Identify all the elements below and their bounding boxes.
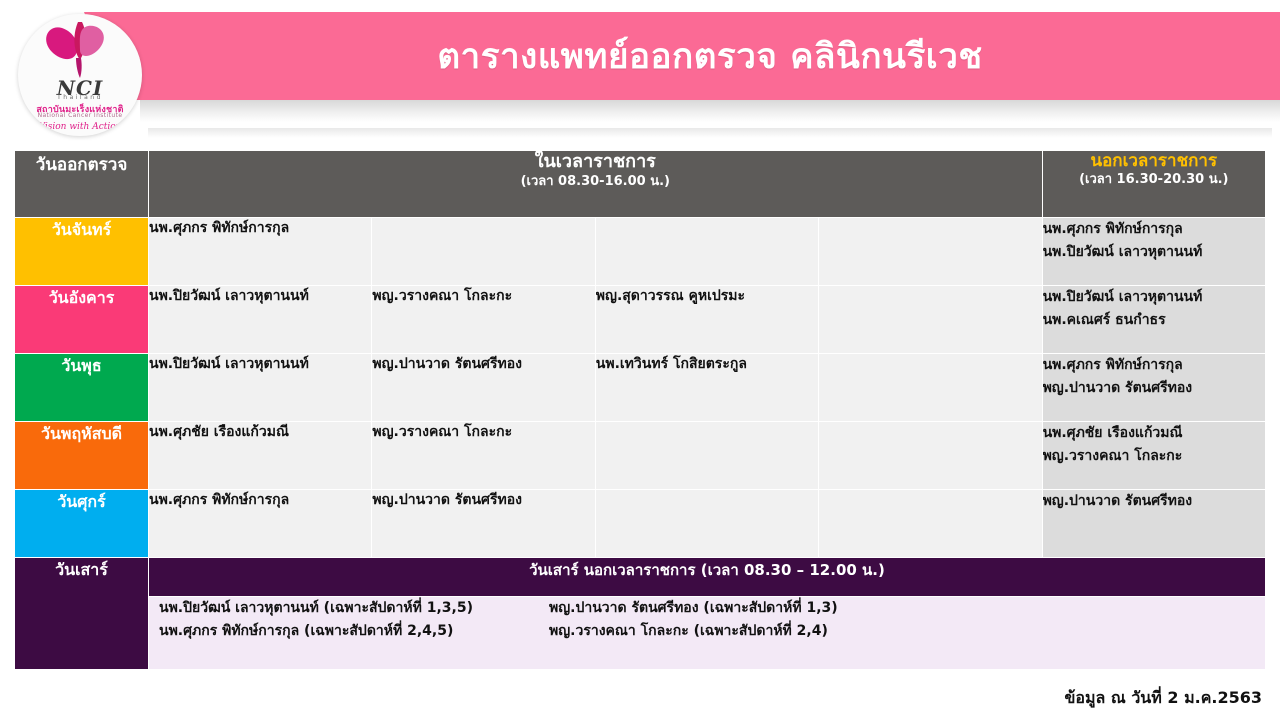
saturday-col2-line-1: พญ.ปานวาด รัตนศรีทอง (เฉพาะสัปดาห์ที่ 1,… xyxy=(549,597,949,620)
day-label-thursday: วันพฤหัสบดี xyxy=(15,422,149,490)
after-hours-wednesday-line-1: นพ.ศุภกร พิทักษ์การกุล xyxy=(1043,354,1265,377)
header-after-hours: นอกเวลาราชการ (เวลา 16.30-20.30 น.) xyxy=(1042,151,1265,218)
table-header-row: วันออกตรวจ ในเวลาราชการ (เวลา 08.30-16.0… xyxy=(15,151,1266,218)
page-title: ตารางแพทย์ออกตรวจ คลินิกนรีเวช xyxy=(140,12,1280,100)
header-in-hours-title: ในเวลาราชการ xyxy=(149,151,1042,174)
table-row: วันอังคาร นพ.ปิยวัฒน์ เลาวหุตานนท์ พญ.วร… xyxy=(15,286,1266,354)
slot-thursday-3 xyxy=(595,422,818,490)
saturday-col2-line-2: พญ.วรางคณา โกละกะ (เฉพาะสัปดาห์ที่ 2,4) xyxy=(549,620,949,643)
slot-friday-4 xyxy=(819,490,1042,558)
after-hours-wednesday-line-2: พญ.ปานวาด รัตนศรีทอง xyxy=(1043,377,1265,400)
slot-thursday-1: นพ.ศุภชัย เรืองแก้วมณี xyxy=(149,422,372,490)
header-in-hours: ในเวลาราชการ (เวลา 08.30-16.00 น.) xyxy=(149,151,1043,218)
after-hours-wednesday: นพ.ศุภกร พิทักษ์การกุล พญ.ปานวาด รัตนศรี… xyxy=(1042,354,1265,422)
doctor-schedule-table: วันออกตรวจ ในเวลาราชการ (เวลา 08.30-16.0… xyxy=(14,150,1266,670)
saturday-col1-line-1: นพ.ปิยวัฒน์ เลาวหุตานนท์ (เฉพาะสัปดาห์ที… xyxy=(159,597,549,620)
slot-thursday-2: พญ.วรางคณา โกละกะ xyxy=(372,422,595,490)
slot-monday-3 xyxy=(595,218,818,286)
slot-wednesday-3: นพ.เทวินทร์ โกสิยตระกูล xyxy=(595,354,818,422)
slot-tuesday-1: นพ.ปิยวัฒน์ เลาวหุตานนท์ xyxy=(149,286,372,354)
day-label-saturday: วันเสาร์ xyxy=(15,558,149,670)
after-hours-friday: พญ.ปานวาด รัตนศรีทอง xyxy=(1042,490,1265,558)
slot-friday-1: นพ.ศุภกร พิทักษ์การกุล xyxy=(149,490,372,558)
slot-monday-2 xyxy=(372,218,595,286)
after-hours-thursday: นพ.ศุภชัย เรืองแก้วมณี พญ.วรางคณา โกละกะ xyxy=(1042,422,1265,490)
header-after-hours-title: นอกเวลาราชการ xyxy=(1043,151,1265,172)
after-hours-tuesday-line-1: นพ.ปิยวัฒน์ เลาวหุตานนท์ xyxy=(1043,286,1265,309)
header-day-column: วันออกตรวจ xyxy=(15,151,149,218)
header-in-hours-time: (เวลา 08.30-16.00 น.) xyxy=(149,174,1042,191)
saturday-title: วันเสาร์ นอกเวลาราชการ (เวลา 08.30 – 12.… xyxy=(149,558,1266,597)
after-hours-monday: นพ.ศุภกร พิทักษ์การกุล นพ.ปิยวัฒน์ เลาวห… xyxy=(1042,218,1265,286)
header-after-hours-time: (เวลา 16.30-20.30 น.) xyxy=(1043,172,1265,189)
saturday-column-1: นพ.ปิยวัฒน์ เลาวหุตานนท์ (เฉพาะสัปดาห์ที… xyxy=(159,597,549,643)
updated-date: ข้อมูล ณ วันที่ 2 ม.ค.2563 xyxy=(1064,686,1262,711)
saturday-title-row: วันเสาร์ วันเสาร์ นอกเวลาราชการ (เวลา 08… xyxy=(15,558,1266,597)
slot-tuesday-4 xyxy=(819,286,1042,354)
after-hours-monday-line-1: นพ.ศุภกร พิทักษ์การกุล xyxy=(1043,218,1265,241)
slot-monday-4 xyxy=(819,218,1042,286)
after-hours-thursday-line-1: นพ.ศุภชัย เรืองแก้วมณี xyxy=(1043,422,1265,445)
table-row: วันพฤหัสบดี นพ.ศุภชัย เรืองแก้วมณี พญ.วร… xyxy=(15,422,1266,490)
slot-friday-3 xyxy=(595,490,818,558)
slide-page: ตารางแพทย์ออกตรวจ คลินิกนรีเวช NCI Thail… xyxy=(0,0,1280,720)
slot-monday-1: นพ.ศุภกร พิทักษ์การกุล xyxy=(149,218,372,286)
saturday-column-2: พญ.ปานวาด รัตนศรีทอง (เฉพาะสัปดาห์ที่ 1,… xyxy=(549,597,949,643)
logo-country: Thailand xyxy=(18,94,142,101)
day-label-monday: วันจันทร์ xyxy=(15,218,149,286)
banner-shadow xyxy=(140,100,1280,122)
saturday-body-row: นพ.ปิยวัฒน์ เลาวหุตานนท์ (เฉพาะสัปดาห์ที… xyxy=(15,597,1266,670)
saturday-col1-line-2: นพ.ศุภกร พิทักษ์การกุล (เฉพาะสัปดาห์ที่ … xyxy=(159,620,549,643)
table-row: วันพุธ นพ.ปิยวัฒน์ เลาวหุตานนท์ พญ.ปานวา… xyxy=(15,354,1266,422)
day-label-friday: วันศุกร์ xyxy=(15,490,149,558)
nci-logo: NCI Thailand สถาบันมะเร็งแห่งชาติ Nation… xyxy=(18,14,142,136)
header-banner: ตารางแพทย์ออกตรวจ คลินิกนรีเวช xyxy=(0,12,1280,116)
after-hours-friday-line-1: พญ.ปานวาด รัตนศรีทอง xyxy=(1043,490,1265,513)
saturday-doctors: นพ.ปิยวัฒน์ เลาวหุตานนท์ (เฉพาะสัปดาห์ที… xyxy=(149,597,1266,670)
slot-wednesday-1: นพ.ปิยวัฒน์ เลาวหุตานนท์ xyxy=(149,354,372,422)
after-hours-monday-line-2: นพ.ปิยวัฒน์ เลาวหุตานนท์ xyxy=(1043,241,1265,264)
logo-tagline: Vision with Action xyxy=(18,122,142,132)
table-row: วันศุกร์ นพ.ศุภกร พิทักษ์การกุล พญ.ปานวา… xyxy=(15,490,1266,558)
slot-wednesday-4 xyxy=(819,354,1042,422)
slot-thursday-4 xyxy=(819,422,1042,490)
slot-tuesday-2: พญ.วรางคณา โกละกะ xyxy=(372,286,595,354)
day-label-tuesday: วันอังคาร xyxy=(15,286,149,354)
slot-friday-2: พญ.ปานวาด รัตนศรีทอง xyxy=(372,490,595,558)
slot-wednesday-2: พญ.ปานวาด รัตนศรีทอง xyxy=(372,354,595,422)
after-hours-tuesday: นพ.ปิยวัฒน์ เลาวหุตานนท์ นพ.คเณศร์ ธนกำธ… xyxy=(1042,286,1265,354)
banner-shadow-secondary xyxy=(148,128,1272,138)
slot-tuesday-3: พญ.สุดาวรรณ คูหเปรมะ xyxy=(595,286,818,354)
after-hours-thursday-line-2: พญ.วรางคณา โกละกะ xyxy=(1043,445,1265,468)
table-row: วันจันทร์ นพ.ศุภกร พิทักษ์การกุล นพ.ศุภก… xyxy=(15,218,1266,286)
day-label-wednesday: วันพุธ xyxy=(15,354,149,422)
after-hours-tuesday-line-2: นพ.คเณศร์ ธนกำธร xyxy=(1043,309,1265,332)
logo-name-english: National Cancer Institute xyxy=(18,112,142,119)
